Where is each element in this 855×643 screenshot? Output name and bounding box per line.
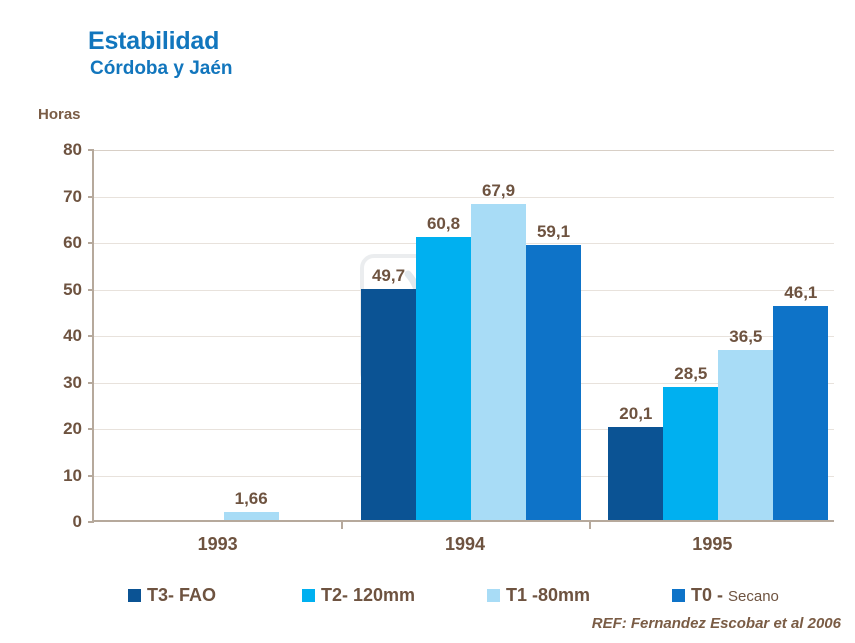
legend-item[interactable]: T3- FAO: [128, 585, 216, 606]
bar-value-label: 36,5: [729, 327, 762, 347]
y-axis-tick: [88, 149, 94, 151]
category-divider-tick: [589, 520, 591, 529]
bar-value-label: 60,8: [427, 214, 460, 234]
y-axis-tick-label: 50: [63, 280, 82, 300]
page-subtitle: Córdoba y Jaén: [90, 57, 233, 81]
y-axis-tick: [88, 382, 94, 384]
bar: 28,5: [663, 387, 718, 520]
y-axis-tick: [88, 289, 94, 291]
y-axis-tick-label: 40: [63, 326, 82, 346]
bar: 20,1: [608, 427, 663, 520]
bar-value-label: 59,1: [537, 222, 570, 242]
gridline: [94, 197, 834, 198]
bar: 36,5: [718, 350, 773, 520]
legend-item[interactable]: T1 -80mm: [487, 585, 590, 606]
y-axis-tick-label: 60: [63, 233, 82, 253]
legend-label-secondary: Secano: [728, 588, 779, 605]
gridline: [94, 150, 834, 151]
x-axis-category-label: 1993: [198, 534, 238, 555]
bar: 60,8: [416, 237, 471, 520]
legend-label: T0 - Secano: [691, 585, 779, 606]
y-axis-tick-label: 70: [63, 187, 82, 207]
legend-label: T2- 120mm: [321, 585, 415, 606]
chart-legend: T3- FAOT2- 120mmT1 -80mmT0 - Secano: [92, 582, 834, 608]
reference-note: REF: Fernandez Escobar et al 2006: [592, 615, 841, 632]
bar: 67,9: [471, 204, 526, 520]
bar: 46,1: [773, 306, 828, 520]
bar-value-label: 49,7: [372, 266, 405, 286]
y-axis-tick-label: 0: [73, 512, 82, 532]
page-title: Estabilidad: [88, 27, 233, 55]
bar: 1,66: [224, 512, 279, 520]
y-axis-unit-label: Horas: [38, 106, 81, 123]
title-block: Estabilidad Córdoba y Jaén: [88, 27, 233, 81]
y-axis-tick: [88, 475, 94, 477]
legend-label: T1 -80mm: [506, 585, 590, 606]
y-axis-tick-label: 80: [63, 140, 82, 160]
y-axis-tick: [88, 335, 94, 337]
legend-swatch-icon: [487, 589, 500, 602]
category-divider-tick: [341, 520, 343, 529]
bar-value-label: 1,66: [235, 489, 268, 509]
y-axis-tick: [88, 428, 94, 430]
legend-item[interactable]: T2- 120mm: [302, 585, 415, 606]
y-axis-tick: [88, 242, 94, 244]
bar-value-label: 20,1: [619, 404, 652, 424]
bar-value-label: 67,9: [482, 181, 515, 201]
y-axis-tick: [88, 521, 94, 523]
bar: 49,7: [361, 289, 416, 520]
bar: 59,1: [526, 245, 581, 520]
y-axis-tick-label: 30: [63, 373, 82, 393]
x-axis-category-label: 1995: [692, 534, 732, 555]
legend-item[interactable]: T0 - Secano: [672, 585, 779, 606]
legend-swatch-icon: [302, 589, 315, 602]
legend-swatch-icon: [128, 589, 141, 602]
x-axis-category-label: 1994: [445, 534, 485, 555]
chart-plot-area: YARA 80706050403020100 1,6649,760,867,95…: [92, 150, 834, 522]
y-axis-tick-label: 10: [63, 466, 82, 486]
y-axis-tick-label: 20: [63, 419, 82, 439]
y-axis-tick: [88, 196, 94, 198]
legend-label: T3- FAO: [147, 585, 216, 606]
legend-swatch-icon: [672, 589, 685, 602]
bar-value-label: 28,5: [674, 364, 707, 384]
bar-value-label: 46,1: [784, 283, 817, 303]
